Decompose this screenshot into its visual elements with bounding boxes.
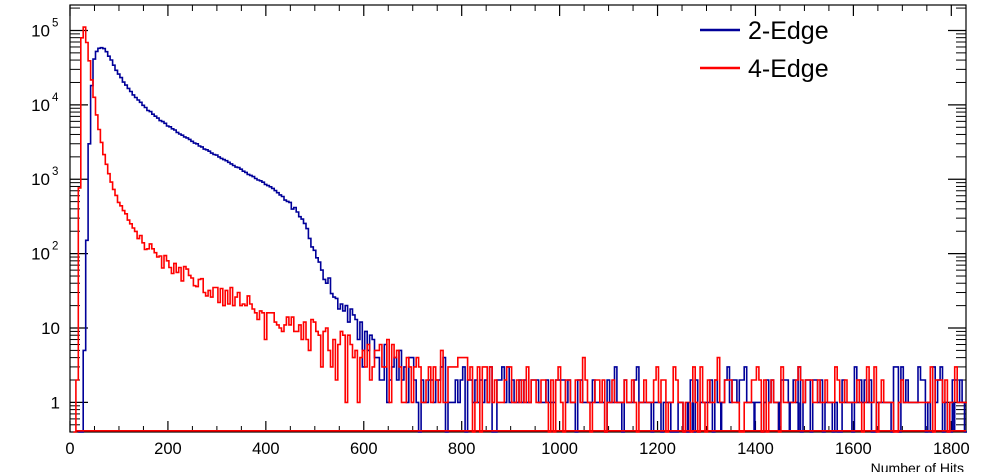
y-tick-label: 10	[31, 21, 50, 40]
frame-rect	[70, 5, 966, 432]
legend-label-2-edge: 2-Edge	[748, 17, 829, 45]
x-tick-label: 400	[252, 440, 280, 458]
y-tick-label: 10	[41, 319, 60, 338]
histogram-plot: 020040060080010001200140016001800Number …	[0, 0, 996, 472]
y-tick-label: 1	[51, 393, 60, 412]
y-tick-label-group: 103	[31, 166, 58, 189]
y-tick-exponent: 5	[52, 17, 58, 29]
y-tick-label: 10	[31, 96, 50, 115]
plot-frame	[70, 5, 966, 432]
y-tick-exponent: 3	[52, 166, 58, 178]
x-tick-label: 1000	[541, 440, 578, 458]
x-tick-label: 200	[154, 440, 182, 458]
y-tick-label-group: 105	[31, 17, 58, 40]
series-line-2-edge	[78, 48, 967, 432]
series-line-4-edge	[73, 27, 967, 432]
x-tick-label: 1600	[835, 440, 872, 458]
chart-canvas: 020040060080010001200140016001800Number …	[0, 0, 996, 472]
y-tick-label-group: 1	[51, 393, 60, 412]
legend-label-4-edge: 4-Edge	[748, 55, 829, 83]
x-tick-label: 800	[448, 440, 476, 458]
y-tick-exponent: 2	[52, 241, 58, 253]
y-tick-label-group: 102	[31, 241, 58, 264]
y-tick-label-group: 10	[41, 319, 60, 338]
x-tick-label: 1800	[933, 440, 970, 458]
data-series	[73, 27, 967, 432]
x-tick-label: 600	[350, 440, 378, 458]
legend: 2-Edge4-Edge	[700, 17, 829, 83]
x-tick-label: 1200	[639, 440, 676, 458]
y-tick-label-group: 104	[31, 92, 59, 115]
x-axis-title: Number of Hits	[871, 460, 964, 472]
y-tick-label: 10	[31, 245, 50, 264]
sparse-spikes	[688, 402, 954, 431]
y-tick-exponent: 4	[52, 92, 59, 104]
x-tick-label: 1400	[737, 440, 774, 458]
x-tick-label: 0	[65, 440, 74, 458]
y-tick-label: 10	[31, 170, 50, 189]
